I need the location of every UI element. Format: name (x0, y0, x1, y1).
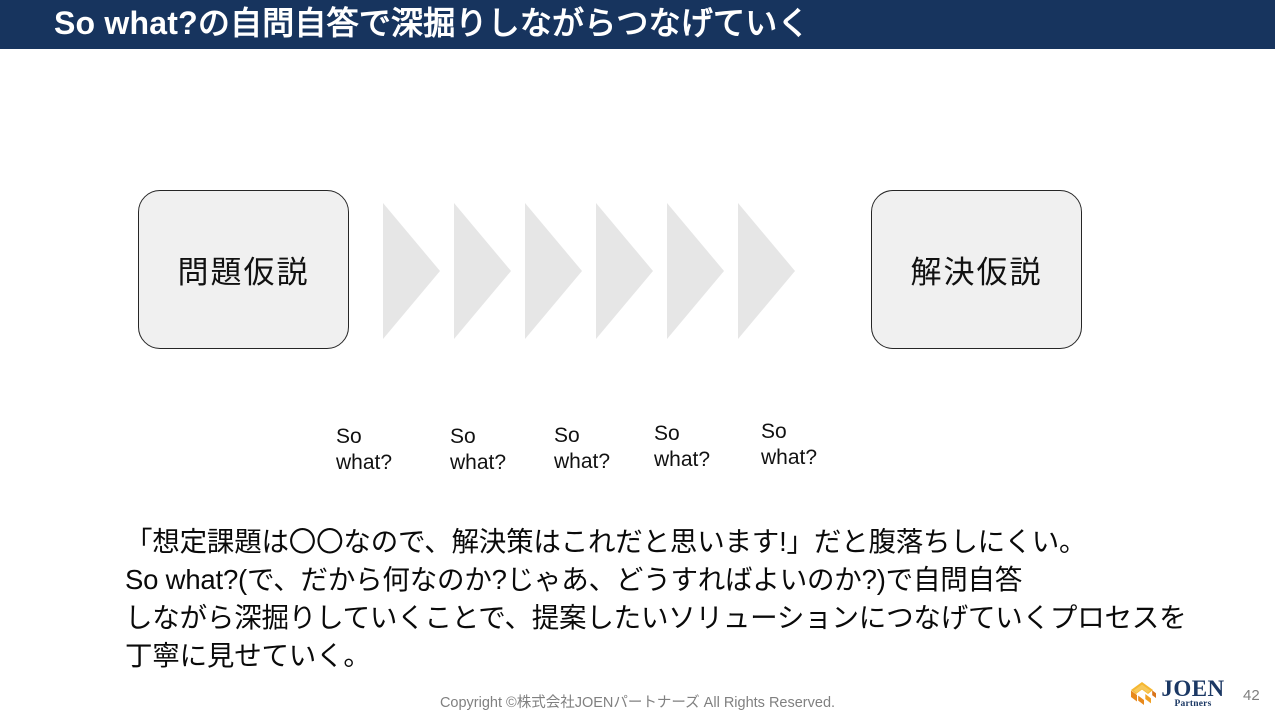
chevron-arrow-icon-3 (525, 203, 582, 339)
sowhat-label-5-line2: what? (761, 445, 817, 471)
body-line-3: しながら深掘りしていくことで、提案したいソリューションにつなげていくプロセスを (125, 599, 1235, 637)
slide-canvas: So what?の自問自答で深掘りしながらつなげていく 問題仮説 解決仮説 (0, 0, 1275, 715)
body-line-1: 「想定課題は〇〇なので、解決策はこれだと思います!」だと腹落ちしにくい。 (125, 523, 1235, 561)
sowhat-label-2-line1: So (450, 424, 506, 450)
sowhat-label-3-line1: So (554, 423, 610, 449)
sowhat-label-3: So what? (554, 423, 610, 475)
handshake-logo-icon (1129, 681, 1157, 706)
sowhat-label-2-line2: what? (450, 450, 506, 476)
chevron-arrow-icon-5 (667, 203, 724, 339)
joen-logo-text: JOEN (1160, 678, 1226, 699)
chevron-arrow-icon-1 (383, 203, 440, 339)
joen-partners-logo: JOEN Partners (1129, 680, 1225, 709)
body-line-4: 丁寧に見せていく。 (125, 637, 1235, 675)
sowhat-label-5-line1: So (761, 419, 817, 445)
sowhat-label-5: So what? (761, 419, 817, 471)
sowhat-label-1-line2: what? (336, 450, 392, 476)
process-box-solution-hypothesis[interactable]: 解決仮説 (871, 190, 1082, 349)
chevron-arrow-icon-6 (738, 203, 795, 339)
footer-copyright: Copyright ©株式会社JOENパートナーズ All Rights Res… (0, 691, 1275, 712)
slide-header-bar: So what?の自問自答で深掘りしながらつなげていく (0, 0, 1275, 49)
sowhat-label-3-line2: what? (554, 449, 610, 475)
sowhat-label-1-line1: So (336, 424, 392, 450)
sowhat-label-1: So what? (336, 424, 392, 476)
page-number: 42 (1243, 687, 1260, 704)
sowhat-label-4-line2: what? (654, 447, 710, 473)
process-box-problem-hypothesis[interactable]: 問題仮説 (138, 190, 349, 349)
page-title: So what?の自問自答で深掘りしながらつなげていく (54, 0, 810, 49)
chevron-arrow-icon-4 (596, 203, 653, 339)
body-paragraph: 「想定課題は〇〇なので、解決策はこれだと思います!」だと腹落ちしにくい。 So … (125, 523, 1235, 675)
process-box-problem-hypothesis-label: 問題仮説 (178, 247, 310, 292)
process-box-solution-hypothesis-label: 解決仮説 (911, 247, 1043, 292)
chevron-arrow-icon-2 (454, 203, 511, 339)
sowhat-label-4-line1: So (654, 421, 710, 447)
body-line-2: So what?(で、だから何なのか?じゃあ、どうすればよいのか?)で自問自答 (125, 561, 1235, 599)
sowhat-label-4: So what? (654, 421, 710, 473)
joen-wordmark: JOEN Partners (1160, 678, 1226, 709)
sowhat-label-2: So what? (450, 424, 506, 476)
